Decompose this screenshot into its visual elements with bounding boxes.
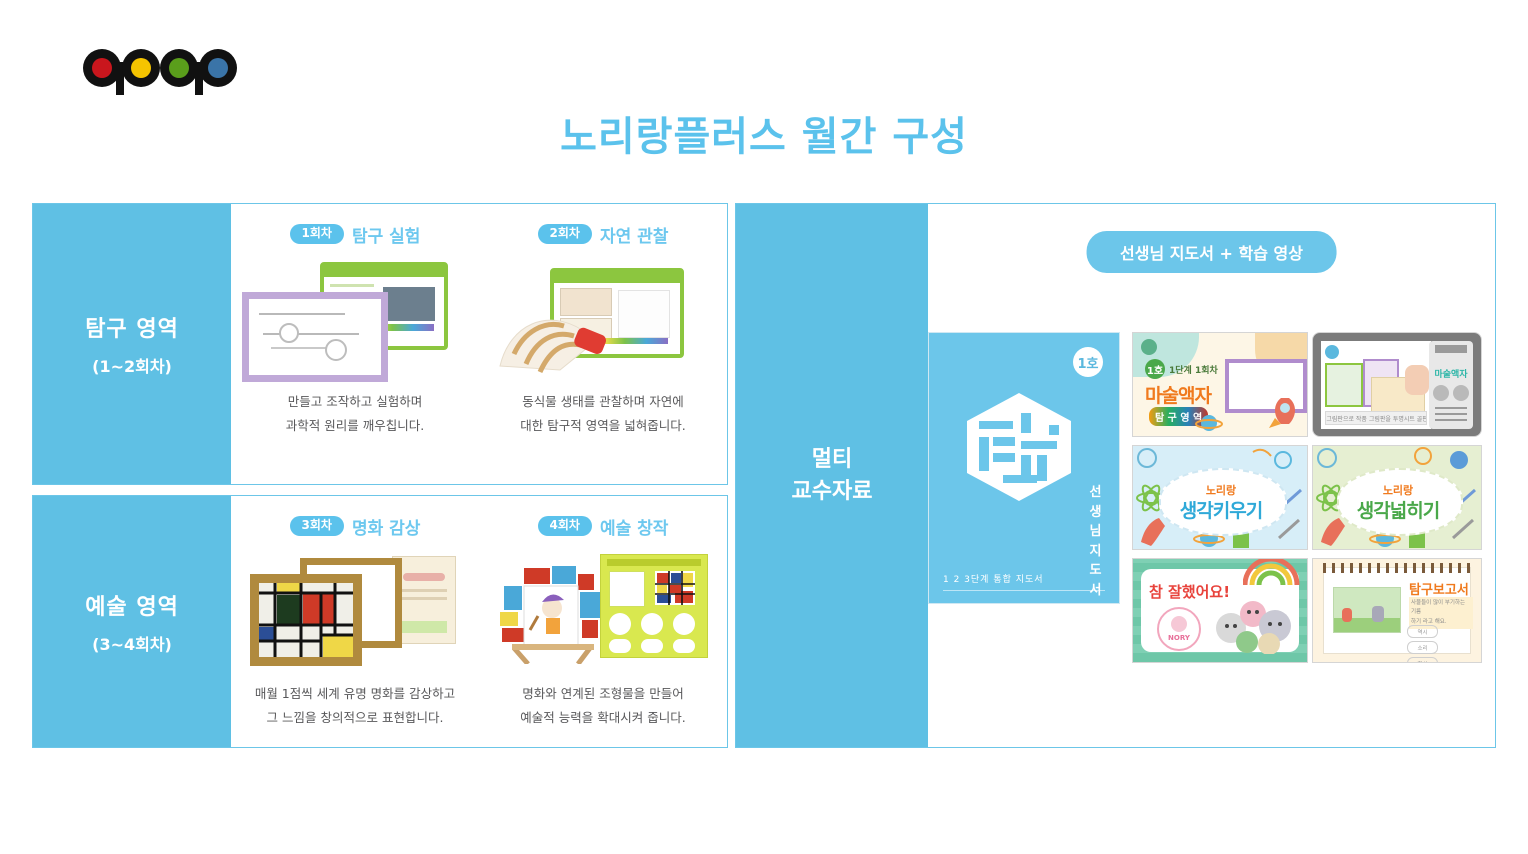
lesson-title-4: 예술 창작 (600, 514, 668, 539)
illustration-figure (1372, 606, 1384, 622)
worksheet-1 (1325, 363, 1363, 407)
lesson-desc-line2: 과학적 원리를 깨우칩니다. (286, 414, 424, 438)
planet-icon (1195, 412, 1223, 434)
sidebar-knob (1453, 385, 1469, 401)
multimedia-label: 멀티 교수자료 (736, 204, 928, 747)
lesson-cell-4[interactable]: 4회차 예술 창작 (479, 496, 727, 747)
curriculum-areas-column: 탐구 영역 (1~2회차) 1회차 탐구 실험 (32, 203, 728, 748)
lesson-head-4: 4회차 예술 창작 (538, 514, 669, 538)
thumb-title: 마술액자 (1145, 381, 1211, 408)
multimedia-thumbnail-grid: 1호 1단계 1회차 마술액자 탐 구 영 역 (1132, 332, 1482, 664)
worksheet-icon (673, 613, 695, 635)
lesson-desc-4: 명화와 연계된 조형물을 만들어 예술적 능력을 확대시켜 줍니다. (520, 682, 685, 730)
lesson-badge-3: 3회차 (290, 516, 344, 535)
section-label-explore: 탐구 영역 (1~2회차) (33, 204, 231, 484)
lesson-cell-2[interactable]: 2회차 자연 관찰 (479, 204, 727, 484)
card-illustration (401, 621, 447, 633)
multimedia-panel: 멀티 교수자료 선생님 지도서 + 학습 영상 1호 (735, 203, 1496, 748)
video-sidebar: 마술액자 (1429, 341, 1473, 429)
lesson-desc-line1: 명화와 연계된 조형물을 만들어 (520, 682, 685, 706)
lesson-desc-3: 매월 1점씩 세계 유명 명화를 감상하고 그 느낌을 창의적으로 표현합니다. (255, 682, 455, 730)
worksheet-icon (609, 613, 631, 635)
card-photo (382, 286, 436, 322)
thumb-exploration-report-worksheet[interactable]: 탐구보고서 사물들이 많이 부기하는 기름 하기 라고 해요. 역시 (1312, 558, 1482, 663)
lesson-desc-line1: 만들고 조작하고 실험하며 (286, 390, 424, 414)
thumb-title: 생각키우기 (1133, 496, 1308, 523)
worksheet-icon (609, 639, 631, 653)
spiral-binding (1323, 563, 1471, 573)
report-option[interactable]: 역시 (1407, 625, 1438, 638)
book-footer-rule (943, 590, 1105, 591)
lesson-title-2: 자연 관찰 (600, 222, 668, 247)
thumb-think-expand-slide[interactable]: 노리랑 생각넓히기 (1312, 445, 1482, 550)
brand-mark (1141, 339, 1157, 355)
report-note-line1: 사물들이 많이 부기하는 기름 (1411, 599, 1471, 618)
sketch-shape (279, 323, 299, 343)
page-title: 노리랑플러스 월간 구성 (0, 104, 1528, 162)
worksheet-icon (641, 639, 663, 653)
sidebar-knob (1433, 385, 1449, 401)
report-options[interactable]: 역시 소리 한식 디엠프 (1407, 625, 1471, 663)
book-vertical-title: 선생님 지도서 (1085, 483, 1107, 600)
lesson-desc-1: 만들고 조작하고 실험하며 과학적 원리를 깨우칩니다. (286, 390, 424, 438)
lesson-desc-line1: 매월 1점씩 세계 유명 명화를 감상하고 (255, 682, 455, 706)
rainbow-icon (1243, 559, 1301, 585)
section-body-explore: 1회차 탐구 실험 (231, 204, 727, 484)
section-label-main: 탐구 영역 (85, 311, 179, 343)
sidebar-line (1435, 407, 1467, 409)
lesson-desc-line2: 대한 탐구적 영역을 넓혀줍니다. (520, 414, 685, 438)
thumb-sub: 1단계 1회차 (1169, 363, 1218, 376)
card-tag (403, 573, 445, 581)
lesson-head-1: 1회차 탐구 실험 (290, 222, 421, 246)
sketch-shape (325, 339, 347, 361)
video-stage: 활동1 : 그림판으로 작품 그림판을 투명시트 골판지 제작 (1321, 341, 1431, 429)
report-option[interactable]: 소리 (1407, 641, 1438, 654)
card-line (330, 284, 374, 287)
lesson-desc-line2: 예술적 능력을 확대시켜 줍니다. (520, 706, 685, 730)
mini-mondrian (655, 571, 695, 605)
lesson-cell-1[interactable]: 1회차 탐구 실험 (231, 204, 479, 484)
multimedia-column: 멀티 교수자료 선생님 지도서 + 학습 영상 1호 (735, 203, 1496, 748)
report-option[interactable]: 한식 (1407, 657, 1438, 663)
mondrian-painting-frame (250, 574, 362, 666)
qoop-logo (78, 48, 238, 96)
block-art-easel (494, 564, 610, 664)
section-label-art: 예술 영역 (3~4회차) (33, 496, 231, 747)
lesson-badge-1: 1회차 (290, 224, 344, 243)
report-title: 탐구보고서 (1409, 579, 1469, 598)
thumb-well-done-certificate[interactable]: 참 잘했어요! NORY (1132, 558, 1308, 663)
card-diagram (618, 290, 670, 338)
section-body-art: 3회차 명화 감상 (231, 496, 727, 747)
sketch-line (263, 333, 359, 335)
teacher-guide-book[interactable]: 1호 (928, 332, 1120, 604)
monthly-structure-board: 탐구 영역 (1~2회차) 1회차 탐구 실험 (32, 203, 1496, 748)
lesson-thumb-1 (240, 260, 470, 378)
thumb-lesson-intro-slide[interactable]: 1호 1단계 1회차 마술액자 탐 구 영 역 (1132, 332, 1308, 437)
section-label-sub: (1~2회차) (92, 353, 172, 377)
multimedia-body: 선생님 지도서 + 학습 영상 1호 (928, 204, 1495, 747)
section-explore: 탐구 영역 (1~2회차) 1회차 탐구 실험 (32, 203, 728, 485)
report-illustration (1333, 587, 1401, 633)
thumb-title: 생각넓히기 (1313, 496, 1482, 523)
rocket-icon (1263, 394, 1303, 434)
lesson-title-1: 탐구 실험 (352, 222, 420, 247)
worksheet-icon (673, 639, 695, 653)
thumb-lesson-video-player[interactable]: 활동1 : 그림판으로 작품 그림판을 투명시트 골판지 제작 마술액자 (1312, 332, 1482, 437)
section-label-sub: (3~4회차) (92, 631, 172, 655)
seashell-illustration (496, 304, 616, 376)
lesson-badge-4: 4회차 (538, 516, 592, 535)
thumb-badge: 1호 (1145, 359, 1165, 379)
card-line (401, 589, 447, 592)
worksheet-icon (641, 613, 663, 635)
mondrian-painting (259, 583, 353, 657)
worksheet-note (609, 571, 645, 607)
lesson-cell-3[interactable]: 3회차 명화 감상 (231, 496, 479, 747)
lesson-desc-line1: 동식물 생태를 관찰하며 자연에 (520, 390, 685, 414)
lesson-desc-line2: 그 느낌을 창의적으로 표현합니다. (255, 706, 455, 730)
thumb-think-grow-slide[interactable]: 노리랑 생각키우기 (1132, 445, 1308, 550)
video-caption: 활동1 : 그림판으로 작품 그림판을 투명시트 골판지 제작 (1325, 411, 1427, 425)
lesson-head-3: 3회차 명화 감상 (290, 514, 421, 538)
section-art: 예술 영역 (3~4회차) 3회차 명화 감상 (32, 495, 728, 748)
card-line (401, 597, 447, 600)
card-header-bar (324, 266, 444, 277)
nory-stamp: NORY (1157, 607, 1201, 651)
book-issue-badge: 1호 (1073, 347, 1103, 377)
worksheet-header (607, 559, 701, 566)
multimedia-label-line2: 교수자료 (792, 476, 873, 508)
multimedia-label-line1: 멀티 (812, 444, 852, 476)
sidebar-line (1435, 419, 1467, 421)
lesson-title-3: 명화 감상 (352, 514, 420, 539)
book-footer-text: 1 2 3단계 통합 지도서 (943, 572, 1044, 585)
noriring-hexagon-logo (963, 391, 1075, 503)
sidebar-line (1435, 413, 1467, 415)
stamp-label: NORY (1168, 634, 1190, 642)
lesson-desc-2: 동식물 생태를 관찰하며 자연에 대한 탐구적 영역을 넓혀줍니다. (520, 390, 685, 438)
sidebar-header (1435, 345, 1467, 353)
multimedia-head-badge: 선생님 지도서 + 학습 영상 (1086, 231, 1337, 273)
sketch-line (259, 313, 345, 315)
stamp-face (1171, 616, 1187, 632)
lesson-badge-2: 2회차 (538, 224, 592, 243)
lesson-thumb-3 (240, 552, 470, 670)
card-header-bar (554, 272, 680, 283)
art-worksheet-green (600, 554, 708, 658)
lesson-thumb-2 (488, 260, 718, 378)
animal-characters (1213, 598, 1299, 654)
brand-mark (1325, 345, 1339, 359)
sidebar-title: 마술액자 (1431, 367, 1471, 380)
coloring-worksheet-purple (242, 292, 388, 382)
lesson-thumb-4 (488, 552, 718, 670)
lesson-head-2: 2회차 자연 관찰 (538, 222, 669, 246)
illustration-figure (1342, 608, 1352, 622)
hand (1405, 365, 1429, 395)
section-label-main: 예술 영역 (85, 589, 179, 621)
